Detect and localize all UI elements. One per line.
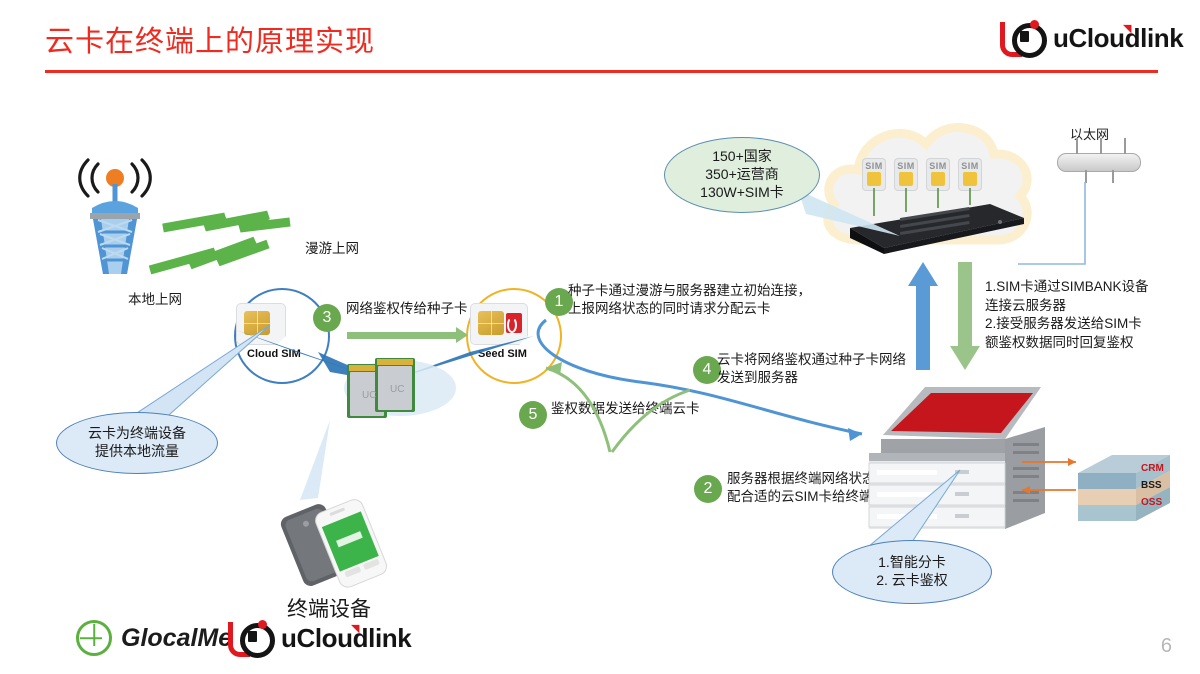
title-divider [45,70,1158,73]
page-title: 云卡在终端上的原理实现 [45,18,375,60]
sim-card-tag: SIM [862,161,886,171]
step-3-badge: 3 [313,304,341,332]
slide-root: 云卡在终端上的原理实现 uCloudlink ◥ [0,0,1200,674]
simbank-notes-text: 1.SIM卡通过SIMBANK设备 连接云服务器 2.接受服务器发送给SIM卡 … [985,278,1149,353]
cloud-sim-card-icon [236,303,286,345]
ucloudlink-mark-icon [228,620,274,656]
footer-logo-text: uCloudlink [281,623,411,654]
ethernet-tick [1076,138,1078,154]
footer-glocalme-logo: GlocalMe [76,620,232,656]
step-4-text: 云卡将网络鉴权通过种子卡网络 发送到服务器 [717,351,906,387]
globe-icon [76,620,112,656]
step-3-text: 网络鉴权传给种子卡 [346,300,468,318]
callout-coverage: 150+国家 350+运营商 130W+SIM卡 [664,137,820,213]
ethernet-tick [1085,170,1087,183]
step-5-badge: 5 [519,401,547,429]
seed-sim-label: Seed SIM [478,348,527,360]
wifi-icon: ◥ [351,622,359,635]
wifi-icon: ◥ [1123,22,1131,35]
callout-local-traffic: 云卡为终端设备 提供本地流量 [56,412,218,474]
step-5-text: 鉴权数据发送给终端云卡 [551,400,700,418]
stack-label-bss: BSS [1141,480,1162,491]
svg-text:UC: UC [362,390,376,401]
local-network-label: 本地上网 [128,288,182,308]
svg-text:UC: UC [390,384,404,395]
header-logo-text: uCloudlink [1053,23,1183,54]
seed-sim-card-icon [470,303,528,345]
ethernet-bus-icon [1057,153,1141,172]
sim-card-tag: SIM [926,161,950,171]
ethernet-tick [1100,138,1102,154]
terminal-devices-label: 终端设备 [287,593,371,623]
step-1-text: 种子卡通过漫游与服务器建立初始连接， 上报网络状态的同时请求分配云卡 [568,282,811,318]
roaming-label: 漫游上网 [305,237,359,257]
stack-label-oss: OSS [1141,497,1162,508]
footer-ucloudlink-logo: uCloudlink ◥ [228,620,411,656]
step-2-badge: 2 [694,475,722,503]
ethernet-tick [1124,138,1126,154]
ethernet-tick [1112,170,1114,183]
glocalme-logo-text: GlocalMe [121,624,232,653]
sim-card-tag: SIM [958,161,982,171]
header-ucloudlink-logo: uCloudlink ◥ [1000,20,1183,56]
ucloudlink-mark-icon [1000,20,1046,56]
step-3-arrow-icon [347,332,457,339]
cloud-sim-label: Cloud SIM [247,348,301,360]
sim-card-tag: SIM [894,161,918,171]
callout-server-functions: 1.智能分卡 2. 云卡鉴权 [832,540,992,604]
stack-label-crm: CRM [1141,463,1164,474]
page-number: 6 [1161,635,1172,658]
